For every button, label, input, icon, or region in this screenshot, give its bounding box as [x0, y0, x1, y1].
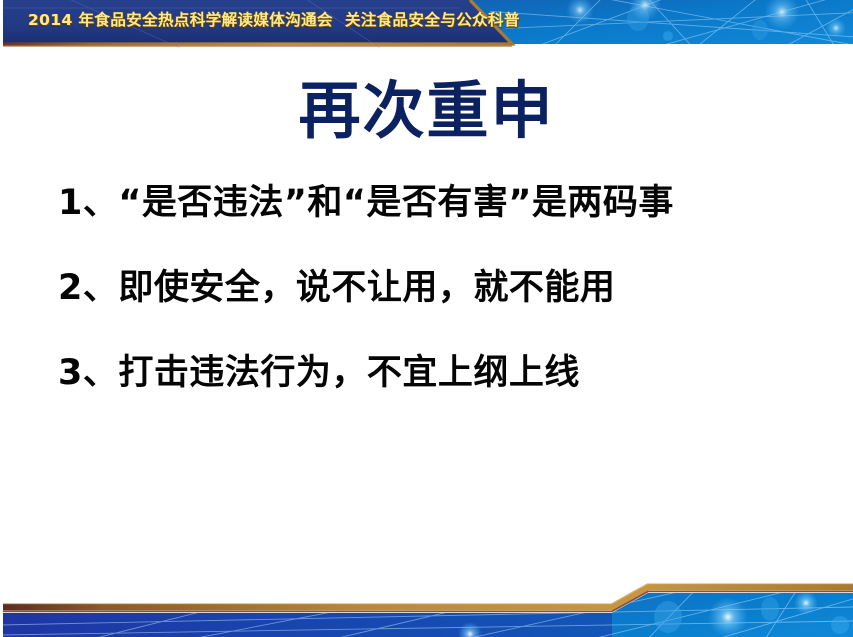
body-line-3: 3、打击违法行为，不宜上纲上线: [58, 356, 848, 391]
body-line-2: 2、即使安全，说不让用，就不能用: [58, 271, 848, 306]
footer-banner: [0, 577, 853, 637]
slide-body-list: 1、“是否违法”和“是否有害”是两码事 2、即使安全，说不让用，就不能用 3、打…: [58, 186, 848, 391]
slide-title: 再次重申: [0, 78, 853, 143]
footer-banner-graphic: [0, 577, 853, 637]
header-banner: 2014 年食品安全热点科学解读媒体沟通会关注食品安全与公众科普: [0, 0, 853, 52]
body-line-1: 1、“是否违法”和“是否有害”是两码事: [58, 186, 848, 221]
header-banner-title-sub: 关注食品安全与公众科普: [345, 11, 520, 29]
header-banner-title-main: 2014 年食品安全热点科学解读媒体沟通会: [28, 11, 333, 29]
header-banner-title: 2014 年食品安全热点科学解读媒体沟通会关注食品安全与公众科普: [28, 13, 520, 29]
presentation-slide: 2014 年食品安全热点科学解读媒体沟通会关注食品安全与公众科普 再次重申 1、…: [0, 0, 853, 637]
